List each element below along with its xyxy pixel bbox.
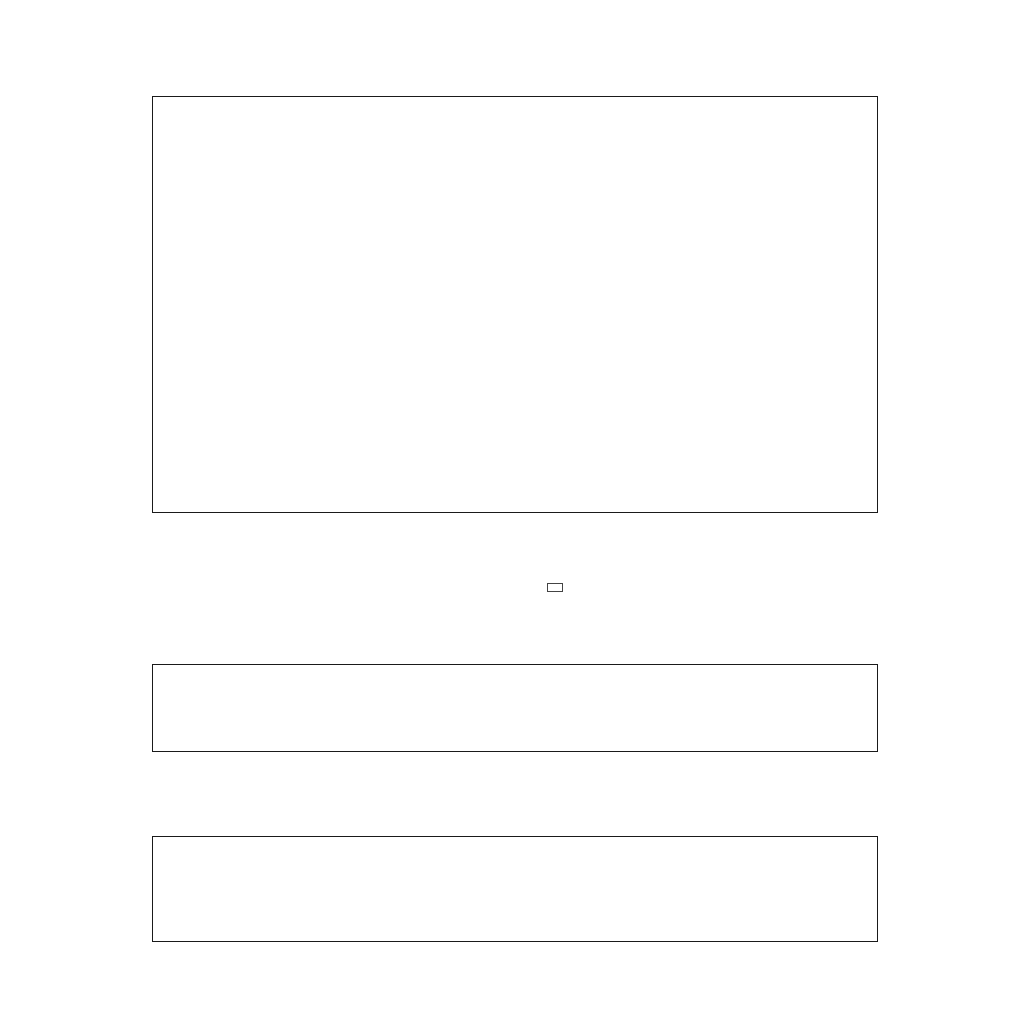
cross-section-graphic: [153, 97, 877, 512]
figure-root: [0, 0, 1024, 1024]
cross-section-plot-area: [152, 96, 878, 513]
temperature-line-graphic: [153, 837, 876, 940]
rain-bars-graphic: [153, 665, 876, 750]
temperature-plot-area: [152, 836, 878, 942]
cross-section-panel: [0, 0, 1024, 620]
rain-panel: [0, 640, 1024, 830]
humidity-colorbar: [910, 98, 954, 500]
contour-caption: [547, 583, 563, 592]
rain-plot-area: [152, 664, 878, 752]
temperature-panel: [0, 830, 1024, 1024]
